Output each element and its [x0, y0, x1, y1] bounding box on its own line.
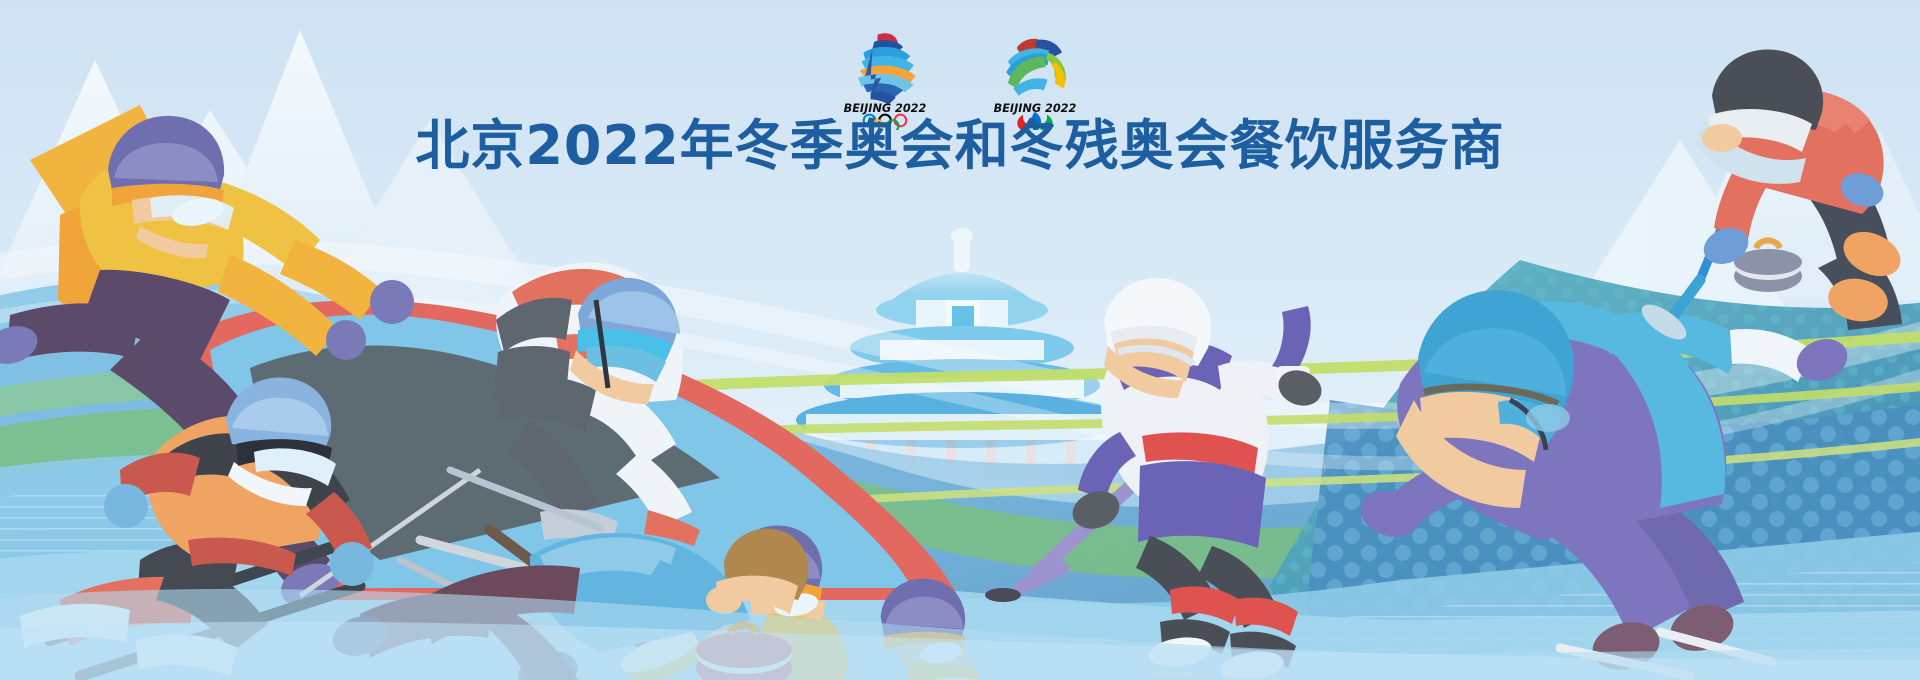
winter-sports-illustration	[0, 0, 1920, 680]
olympic-banner: BEIJING 2022 BEIJING 2022	[0, 0, 1920, 680]
page-title-wrap: 北京2022年冬季奥会和冬残奥会餐饮服务商	[0, 118, 1920, 175]
page-title: 北京2022年冬季奥会和冬残奥会餐饮服务商	[415, 118, 1504, 175]
